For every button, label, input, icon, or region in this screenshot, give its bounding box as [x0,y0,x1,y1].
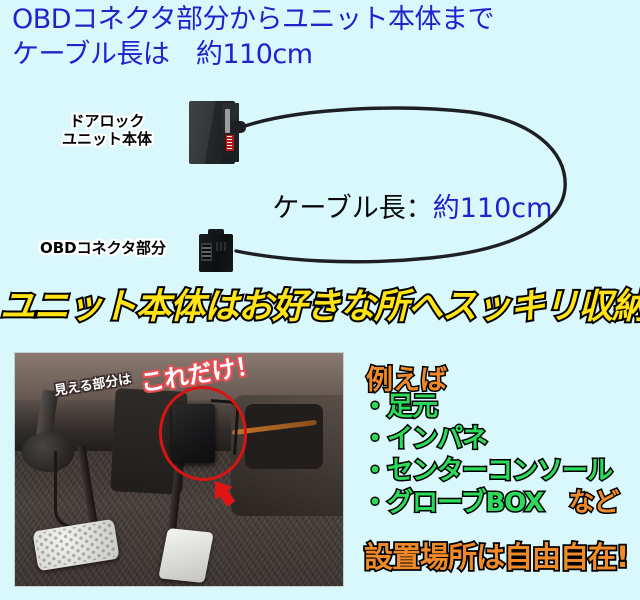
list-item-label: ・グローブBOX [362,488,543,518]
list-item: ・グローブBOX など [362,488,619,520]
obd-connector-image [199,229,235,273]
footer-note: 設置場所は自由自在! [364,534,628,576]
obd-connector-label: OBDコネクタ部分 [40,240,166,258]
unit-dip-switch [225,135,234,151]
unit-plug [231,121,246,133]
unit-slot [225,109,230,133]
list-item-label: ・インパネ [362,424,487,454]
obd-ridge [216,242,228,251]
cable-length-text: ケーブル長： [272,193,432,224]
storage-banner: ユニット本体はお好きな所へスッキリ収納可能!! [0,288,640,327]
photo-sill-recess [245,404,324,469]
list-item: ・センターコンソール [362,456,619,488]
list-item-suffix: など [543,488,618,518]
product-infographic: OBDコネクタ部分からユニット本体まで ケーブル長は 約110cm ドアロック … [0,0,640,600]
examples-list: ・足元 ・インパネ ・センターコンソール ・グローブBOX など [362,392,619,520]
list-item-label: ・足元 [362,392,437,422]
headline-line-1: OBDコネクタ部分からユニット本体まで [12,6,494,34]
list-item: ・インパネ [362,424,619,456]
list-item-label: ・センターコンソール [362,456,612,486]
cable-length-caption: ケーブル長：約110cm [238,168,552,249]
obd-pins [201,243,212,261]
cable-length-value: 約110cm [433,193,553,224]
list-item: ・足元 [362,392,619,424]
arrow-tail-icon [219,490,235,507]
doorlock-unit-image [189,101,245,164]
doorlock-unit-label: ドアロック ユニット本体 [62,113,152,148]
headline-line-2: ケーブル長は 約110cm [12,41,313,69]
photo-accelerator-pedal [158,528,213,583]
